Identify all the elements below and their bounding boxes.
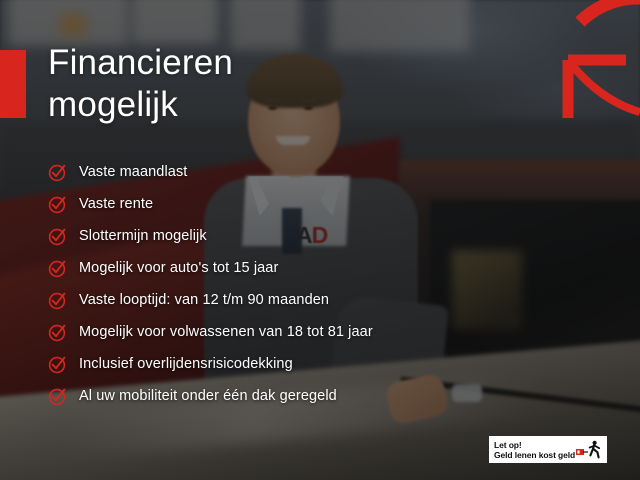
page-title: Financieren mogelijk: [48, 42, 233, 126]
list-item-label: Vaste looptijd: van 12 t/m 90 maanden: [79, 292, 329, 309]
list-item: Mogelijk voor auto's tot 15 jaar: [48, 252, 373, 284]
list-item: Mogelijk voor volwassenen van 18 tot 81 …: [48, 316, 373, 348]
accent-bar: [0, 50, 26, 118]
check-circle-icon: [48, 195, 67, 214]
content-area: Financieren mogelijk Vaste maandlast: [48, 0, 608, 480]
list-item-label: Vaste rente: [79, 196, 153, 213]
list-item-label: Al uw mobiliteit onder één dak geregeld: [79, 388, 337, 405]
check-circle-icon: [48, 355, 67, 374]
walking-person-icon: [576, 440, 602, 460]
list-item-label: Mogelijk voor auto's tot 15 jaar: [79, 260, 278, 277]
list-item-label: Inclusief overlijdensrisicodekking: [79, 356, 293, 373]
credit-warning-text: Let op! Geld lenen kost geld: [494, 440, 576, 460]
check-circle-icon: [48, 291, 67, 310]
check-circle-icon: [48, 163, 67, 182]
check-circle-icon: [48, 387, 67, 406]
credit-warning-badge: Let op! Geld lenen kost geld: [489, 436, 607, 463]
list-item: Al uw mobiliteit onder één dak geregeld: [48, 380, 373, 412]
feature-list: Vaste maandlast Vaste rente: [48, 156, 373, 412]
list-item: Slottermijn mogelijk: [48, 220, 373, 252]
list-item-label: Slottermijn mogelijk: [79, 228, 207, 245]
list-item-label: Vaste maandlast: [79, 164, 187, 181]
finance-promo-banner: AD Financieren mogelijk: [0, 0, 640, 480]
list-item-label: Mogelijk voor volwassenen van 18 tot 81 …: [79, 324, 373, 341]
list-item: Vaste rente: [48, 188, 373, 220]
check-circle-icon: [48, 227, 67, 246]
list-item: Vaste maandlast: [48, 156, 373, 188]
list-item: Inclusief overlijdensrisicodekking: [48, 348, 373, 380]
check-circle-icon: [48, 259, 67, 278]
list-item: Vaste looptijd: van 12 t/m 90 maanden: [48, 284, 373, 316]
check-circle-icon: [48, 323, 67, 342]
